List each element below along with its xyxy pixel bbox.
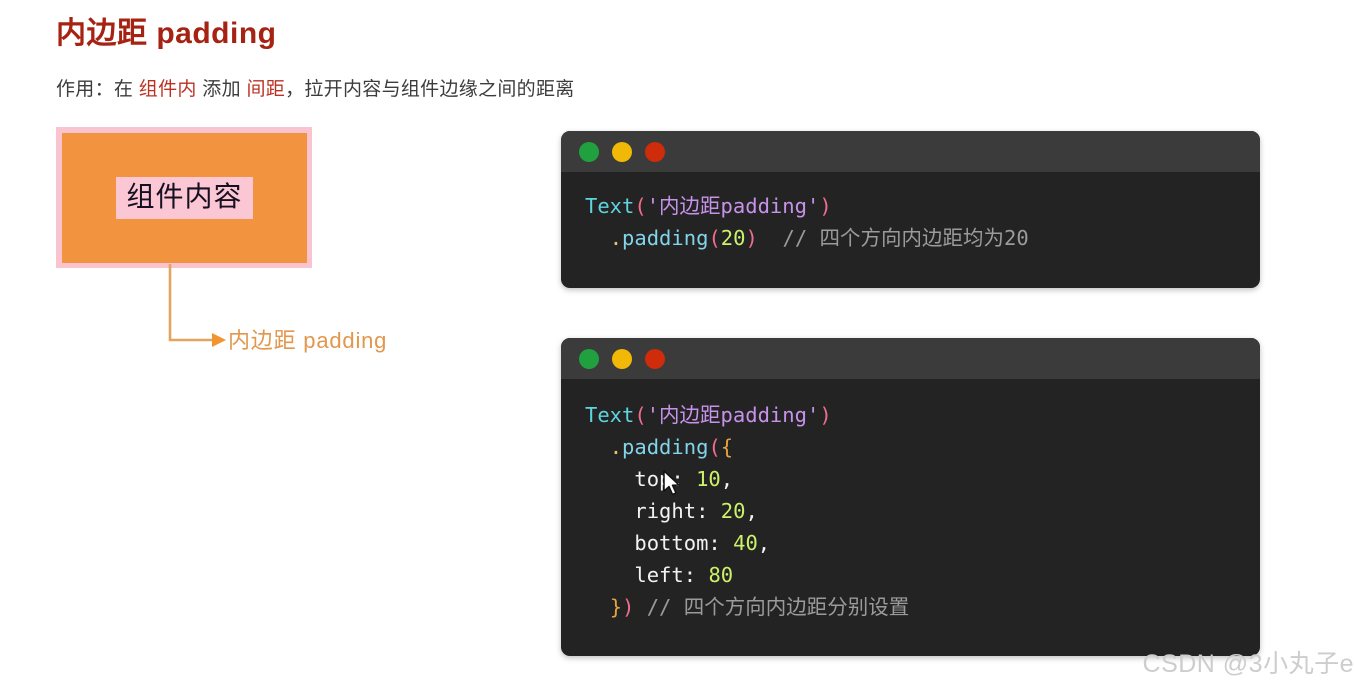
code-token — [634, 595, 646, 619]
code-token: right — [585, 499, 696, 523]
code-line: .padding({ — [585, 431, 1260, 463]
code-token: ( — [708, 226, 720, 250]
code-window-title-bar — [561, 338, 1260, 379]
code-token: 20 — [721, 499, 746, 523]
code-token: { — [721, 435, 733, 459]
code-token: // 四个方向内边距均为20 — [783, 226, 1029, 250]
code-line: left: 80 — [585, 559, 1260, 591]
component-content-area: 组件内容 — [62, 133, 307, 263]
callout-label: 内边距 padding — [228, 323, 387, 355]
subtitle-part-2: 添加 — [197, 79, 247, 100]
code-token — [585, 595, 610, 619]
code-token: ( — [708, 435, 720, 459]
subtitle-highlight-1: 组件内 — [139, 79, 197, 100]
window-close-dot-icon[interactable] — [645, 349, 665, 369]
code-token: padding — [622, 435, 708, 459]
window-maximize-dot-icon[interactable] — [612, 142, 632, 162]
code-token: ( — [634, 194, 646, 218]
code-token: Text — [585, 403, 634, 427]
code-token: '内边距padding' — [647, 194, 820, 218]
code-window-title-bar — [561, 131, 1260, 172]
subtitle-part-1: 作用：在 — [56, 79, 139, 100]
code-token: ) — [819, 194, 831, 218]
code-content: Text('内边距padding') .padding({ top: 10, r… — [561, 379, 1260, 623]
code-token: '内边距padding' — [647, 403, 820, 427]
subtitle-part-3: ，拉开内容与组件边缘之间的距离 — [285, 79, 575, 100]
code-line: right: 20, — [585, 495, 1260, 527]
code-token: ) — [819, 403, 831, 427]
code-token: } — [610, 595, 622, 619]
code-token: , — [745, 499, 757, 523]
code-token: top — [585, 467, 671, 491]
code-line: top: 10, — [585, 463, 1260, 495]
code-token: bottom — [585, 531, 708, 555]
code-token — [758, 226, 783, 250]
window-minimize-dot-icon[interactable] — [579, 349, 599, 369]
code-token: ) — [745, 226, 757, 250]
code-token: 80 — [708, 563, 733, 587]
subtitle: 作用：在 组件内 添加 间距，拉开内容与组件边缘之间的距离 — [56, 74, 575, 101]
code-token: 40 — [733, 531, 758, 555]
code-token: // 四个方向内边距分别设置 — [647, 595, 910, 619]
subtitle-highlight-2: 间距 — [246, 79, 285, 100]
code-line: .padding(20) // 四个方向内边距均为20 — [585, 222, 1260, 254]
component-content-label: 组件内容 — [116, 177, 252, 218]
window-close-dot-icon[interactable] — [645, 142, 665, 162]
code-token: : — [696, 499, 721, 523]
code-window-padding-per-side: Text('内边距padding') .padding({ top: 10, r… — [561, 338, 1260, 656]
code-token: ) — [622, 595, 634, 619]
code-token: ( — [634, 403, 646, 427]
page-title: 内边距 padding — [56, 8, 276, 52]
watermark: CSDN @3小丸子e — [1143, 644, 1354, 680]
code-line: bottom: 40, — [585, 527, 1260, 559]
code-token — [585, 226, 610, 250]
code-token — [585, 435, 610, 459]
window-minimize-dot-icon[interactable] — [579, 142, 599, 162]
code-token: , — [758, 531, 770, 555]
code-line: Text('内边距padding') — [585, 190, 1260, 222]
code-line: Text('内边距padding') — [585, 399, 1260, 431]
code-token: left — [585, 563, 684, 587]
window-maximize-dot-icon[interactable] — [612, 349, 632, 369]
code-token: . — [610, 435, 622, 459]
code-token: : — [684, 563, 709, 587]
code-token: 10 — [696, 467, 721, 491]
padding-area: 组件内容 — [56, 127, 312, 268]
code-content: Text('内边距padding') .padding(20) // 四个方向内… — [561, 172, 1260, 254]
padding-diagram: 组件内容 — [56, 127, 312, 268]
code-token: : — [708, 531, 733, 555]
code-token: 20 — [721, 226, 746, 250]
code-token: padding — [622, 226, 708, 250]
code-line: }) // 四个方向内边距分别设置 — [585, 591, 1260, 623]
code-token: . — [610, 226, 622, 250]
code-token: : — [671, 467, 696, 491]
code-window-padding-uniform: Text('内边距padding') .padding(20) // 四个方向内… — [561, 131, 1260, 288]
code-token: Text — [585, 194, 634, 218]
code-token: , — [721, 467, 733, 491]
